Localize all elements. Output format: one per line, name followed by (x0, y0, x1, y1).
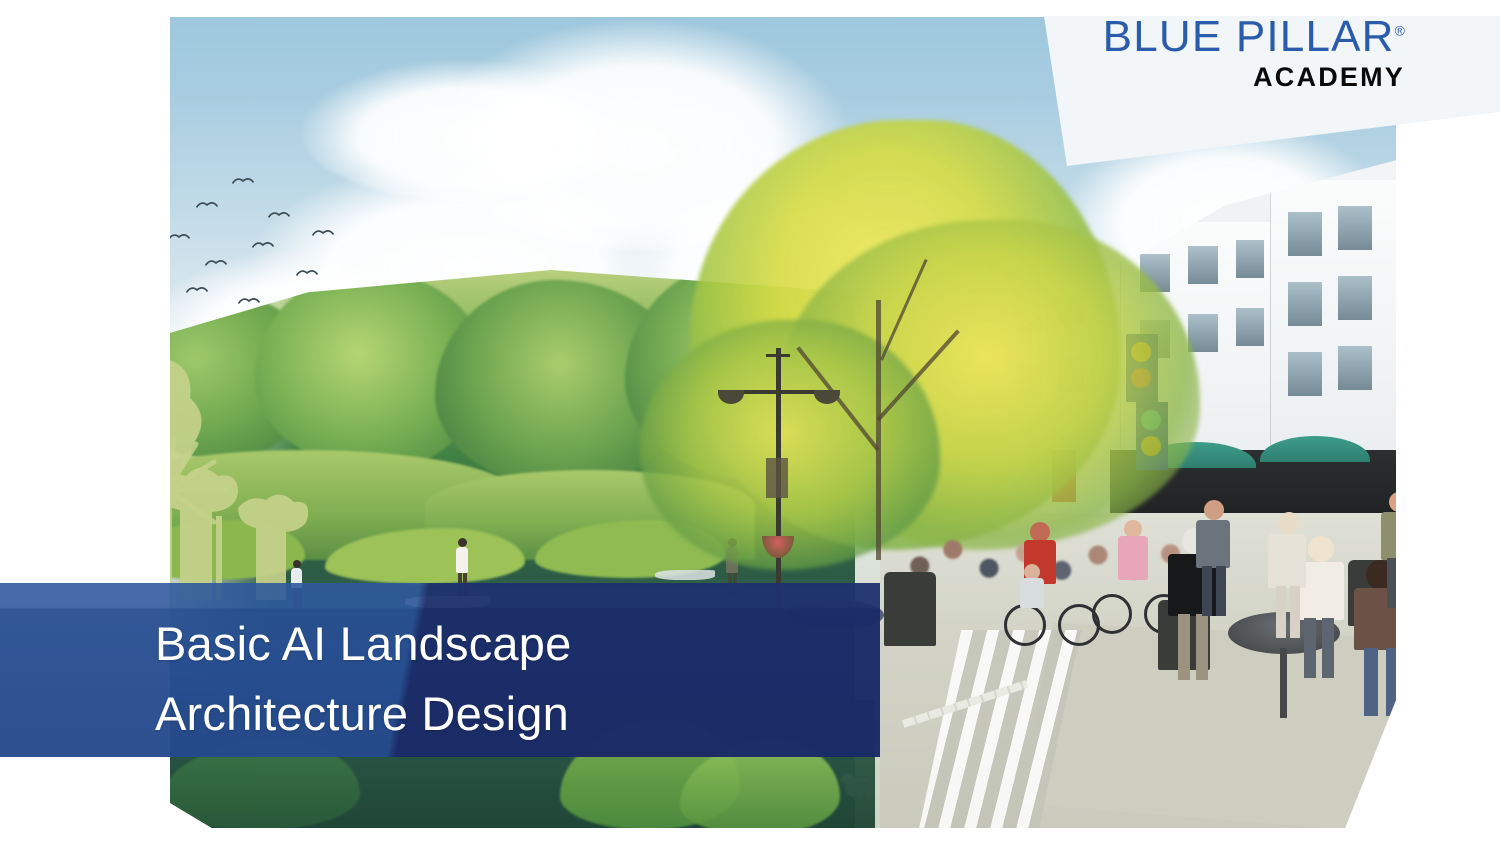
window (1288, 352, 1322, 396)
brand-logo: BLUE PILLAR® ACADEMY (1103, 14, 1405, 93)
window (1288, 212, 1322, 256)
window (1338, 276, 1372, 320)
person-standing (1190, 500, 1238, 620)
corner-mask (0, 828, 1500, 843)
window (1338, 346, 1372, 390)
title-line-2: Architecture Design (155, 679, 1490, 749)
lamp-sign-box (766, 458, 788, 498)
window (1338, 206, 1372, 250)
bird-icon (186, 285, 208, 295)
title-line-1: Basic AI Landscape (155, 609, 1490, 679)
punt-boat (655, 570, 715, 580)
cover-banner: BLUE PILLAR® ACADEMY Basic AI Landscape … (0, 0, 1500, 843)
logo-secondary-text: ACADEMY (1103, 62, 1405, 93)
lamp-finial (766, 354, 790, 357)
tree-branch (876, 300, 881, 560)
cyclist-head (1030, 522, 1050, 542)
page-title: Basic AI Landscape Architecture Design (155, 609, 1490, 748)
bird-icon (168, 232, 190, 242)
bird-icon (196, 200, 218, 210)
bird-icon (252, 240, 274, 250)
cyclist-torso (1118, 536, 1148, 580)
hanging-flower-basket (762, 536, 794, 558)
logo-primary-text: BLUE PILLAR® (1103, 14, 1405, 60)
bird-icon (296, 268, 318, 278)
window (1236, 308, 1264, 346)
window (1236, 240, 1264, 278)
bird-icon (268, 210, 290, 220)
street-lamppost (740, 348, 850, 608)
lamp-head (814, 390, 840, 404)
bird-icon (312, 228, 334, 238)
child-torso (1020, 578, 1044, 608)
bird-icon (205, 258, 227, 268)
bird-icon (232, 176, 254, 186)
registered-mark-icon: ® (1395, 22, 1405, 38)
window (1288, 282, 1322, 326)
window (1188, 246, 1218, 284)
logo-primary-label: BLUE PILLAR (1103, 12, 1395, 61)
window (1188, 314, 1218, 352)
